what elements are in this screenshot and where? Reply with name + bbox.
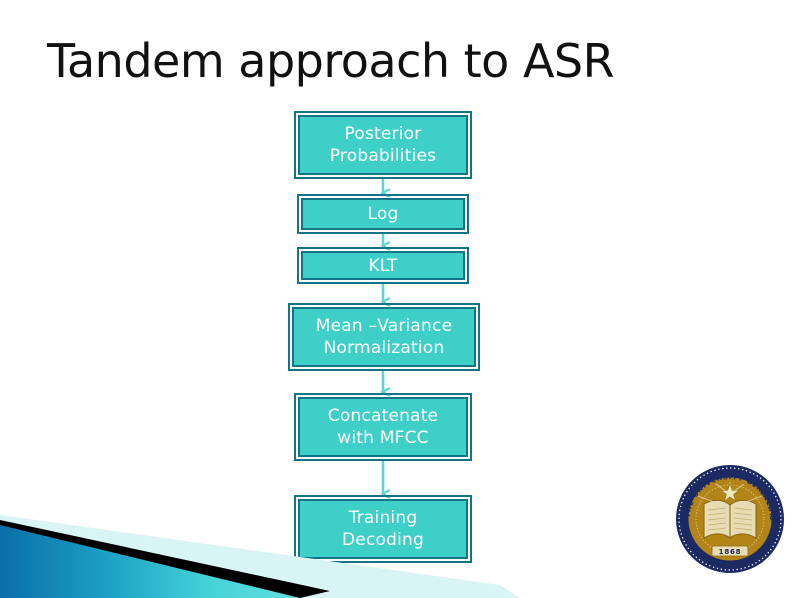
flow-node-posterior-probabilities[interactable]: Posterior Probabilities — [298, 115, 468, 175]
flow-node-label: Mean –Variance Normalization — [310, 315, 458, 359]
flow-node-klt[interactable]: KLT — [301, 251, 465, 280]
flow-node-concatenate-with-mfcc[interactable]: Concatenate with MFCC — [298, 397, 468, 457]
flow-node-label: Concatenate with MFCC — [322, 405, 444, 449]
uc-berkeley-seal-logo: THE·UNIVERSITY·OF·CALIFORNIA· BERKELEY· — [674, 462, 786, 580]
flow-node-label: Log — [362, 203, 405, 225]
seal-year-text: 1868 — [719, 548, 742, 556]
flow-node-label: Training Decoding — [336, 507, 430, 551]
flow-node-mean-variance-normalization[interactable]: Mean –Variance Normalization — [292, 307, 476, 367]
flow-node-label: Posterior Probabilities — [324, 123, 442, 167]
slide-canvas: Tandem approach to ASR Posterior Probabi… — [0, 0, 800, 598]
seal-year-banner: 1868 — [712, 546, 748, 556]
flow-node-label: KLT — [362, 255, 403, 277]
seal-open-book — [704, 500, 756, 538]
flow-node-training-decoding[interactable]: Training Decoding — [298, 499, 468, 559]
flow-node-log[interactable]: Log — [301, 198, 465, 230]
